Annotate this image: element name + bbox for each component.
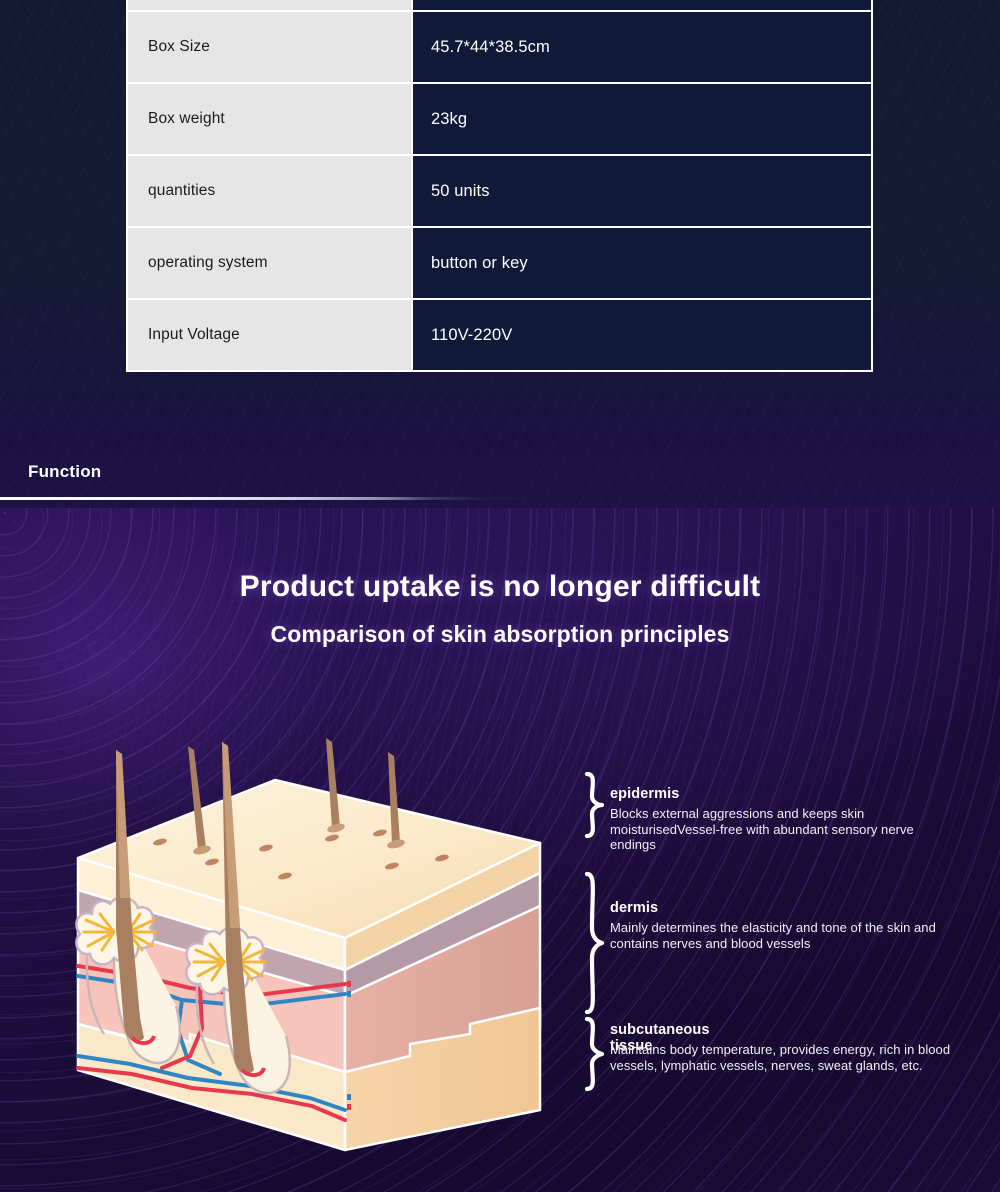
table-row: Box Size 45.7*44*38.5cm — [126, 12, 873, 84]
section-label: Function — [28, 462, 101, 482]
brace-icon — [580, 1015, 606, 1093]
table-row: Package weight 0.43kg — [126, 0, 873, 12]
spec-value: 0.43kg — [413, 0, 873, 12]
spec-value: 50 units — [413, 156, 873, 228]
table-row: operating system button or key — [126, 228, 873, 300]
spec-key: Box Size — [126, 12, 413, 84]
brace-icon — [580, 770, 606, 840]
spec-key: operating system — [126, 228, 413, 300]
table-row: quantities 50 units — [126, 156, 873, 228]
page-root: Package weight 0.43kg Box Size 45.7*44*3… — [0, 0, 1000, 1192]
specification-table: Package weight 0.43kg Box Size 45.7*44*3… — [126, 0, 873, 372]
spec-key: Input Voltage — [126, 300, 413, 372]
section-divider — [0, 497, 1000, 500]
callout-body: Mainly determines the elasticity and ton… — [610, 920, 962, 951]
function-section-header: Function — [0, 462, 1000, 510]
table-row: Box weight 23kg — [126, 84, 873, 156]
panel-heading: Product uptake is no longer difficult — [0, 570, 1000, 604]
spec-section: Package weight 0.43kg Box Size 45.7*44*3… — [0, 0, 1000, 510]
spec-value: 110V-220V — [413, 300, 873, 372]
callout-title: epidermis — [610, 786, 679, 802]
spec-key: Box weight — [126, 84, 413, 156]
spec-value: button or key — [413, 228, 873, 300]
spec-value: 23kg — [413, 84, 873, 156]
panel-subheading: Comparison of skin absorption principles — [0, 621, 1000, 648]
callout-body: Maintains body temperature, provides ene… — [610, 1042, 962, 1073]
function-panel: Product uptake is no longer difficult Co… — [0, 508, 1000, 1192]
layer-callouts: epidermis Blocks external aggressions an… — [580, 770, 980, 1130]
spec-value: 45.7*44*38.5cm — [413, 12, 873, 84]
spec-key: Package weight — [126, 0, 413, 12]
brace-icon — [580, 870, 606, 1016]
skin-cross-section-illustration — [70, 738, 560, 1158]
callout-title: dermis — [610, 900, 658, 916]
spec-key: quantities — [126, 156, 413, 228]
table-row: Input Voltage 110V-220V — [126, 300, 873, 372]
callout-body: Blocks external aggressions and keeps sk… — [610, 806, 962, 853]
